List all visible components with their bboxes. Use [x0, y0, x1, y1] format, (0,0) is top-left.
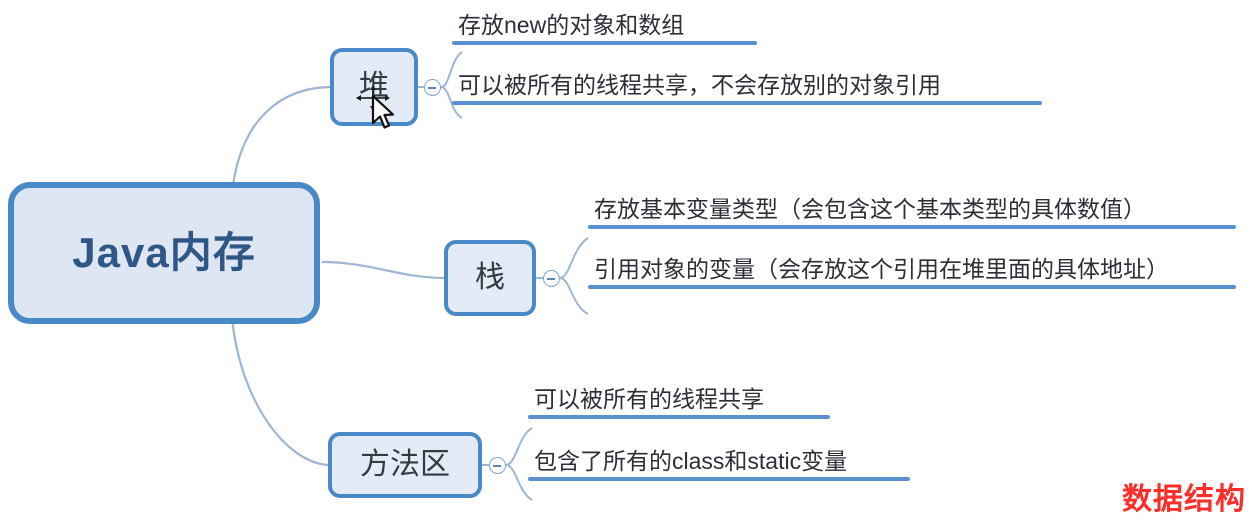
leaf-underline [528, 477, 910, 481]
branch-node-method-area-label: 方法区 [360, 450, 450, 480]
leaf-underline [452, 101, 1042, 105]
leaf-item[interactable]: 包含了所有的class和static变量 [528, 448, 910, 481]
leaf-item[interactable]: 可以被所有的线程共享，不会存放别的对象引用 [452, 72, 1042, 105]
mindmap-canvas: Java内存 堆 存放new的对象和数组 可以被所有的线程共享，不会存放别的对象… [0, 0, 1260, 526]
leaf-item[interactable]: 存放基本变量类型（会包含这个基本类型的具体数值） [588, 196, 1236, 229]
branch-node-heap-label: 堆 [359, 72, 389, 102]
leaf-underline [528, 415, 830, 419]
leaf-item-label: 可以被所有的线程共享 [528, 386, 830, 415]
leaf-item-label: 存放基本变量类型（会包含这个基本类型的具体数值） [588, 196, 1236, 225]
leaf-item[interactable]: 引用对象的变量（会存放这个引用在堆里面的具体地址） [588, 256, 1236, 289]
leaf-item-label: 引用对象的变量（会存放这个引用在堆里面的具体地址） [588, 256, 1236, 285]
branch-node-stack[interactable]: 栈 [444, 240, 536, 316]
leaf-underline [588, 225, 1236, 229]
root-node-label: Java内存 [72, 232, 255, 274]
leaf-item-label: 包含了所有的class和static变量 [528, 448, 910, 477]
collapse-minus-icon-stack[interactable] [543, 270, 560, 287]
leaf-item[interactable]: 可以被所有的线程共享 [528, 386, 830, 419]
leaf-underline [588, 285, 1236, 289]
leaf-item-label: 可以被所有的线程共享，不会存放别的对象引用 [452, 72, 1042, 101]
leaf-item[interactable]: 存放new的对象和数组 [452, 12, 757, 45]
leaf-underline [452, 41, 757, 45]
root-node-java-memory[interactable]: Java内存 [8, 182, 320, 324]
collapse-minus-icon-heap[interactable] [424, 79, 441, 96]
branch-node-stack-label: 栈 [475, 263, 505, 293]
watermark-text: 数据结构 [1122, 474, 1246, 518]
leaf-item-label: 存放new的对象和数组 [452, 12, 757, 41]
branch-node-heap[interactable]: 堆 [330, 48, 418, 126]
branch-node-method-area[interactable]: 方法区 [328, 432, 482, 498]
collapse-minus-icon-method-area[interactable] [489, 457, 506, 474]
